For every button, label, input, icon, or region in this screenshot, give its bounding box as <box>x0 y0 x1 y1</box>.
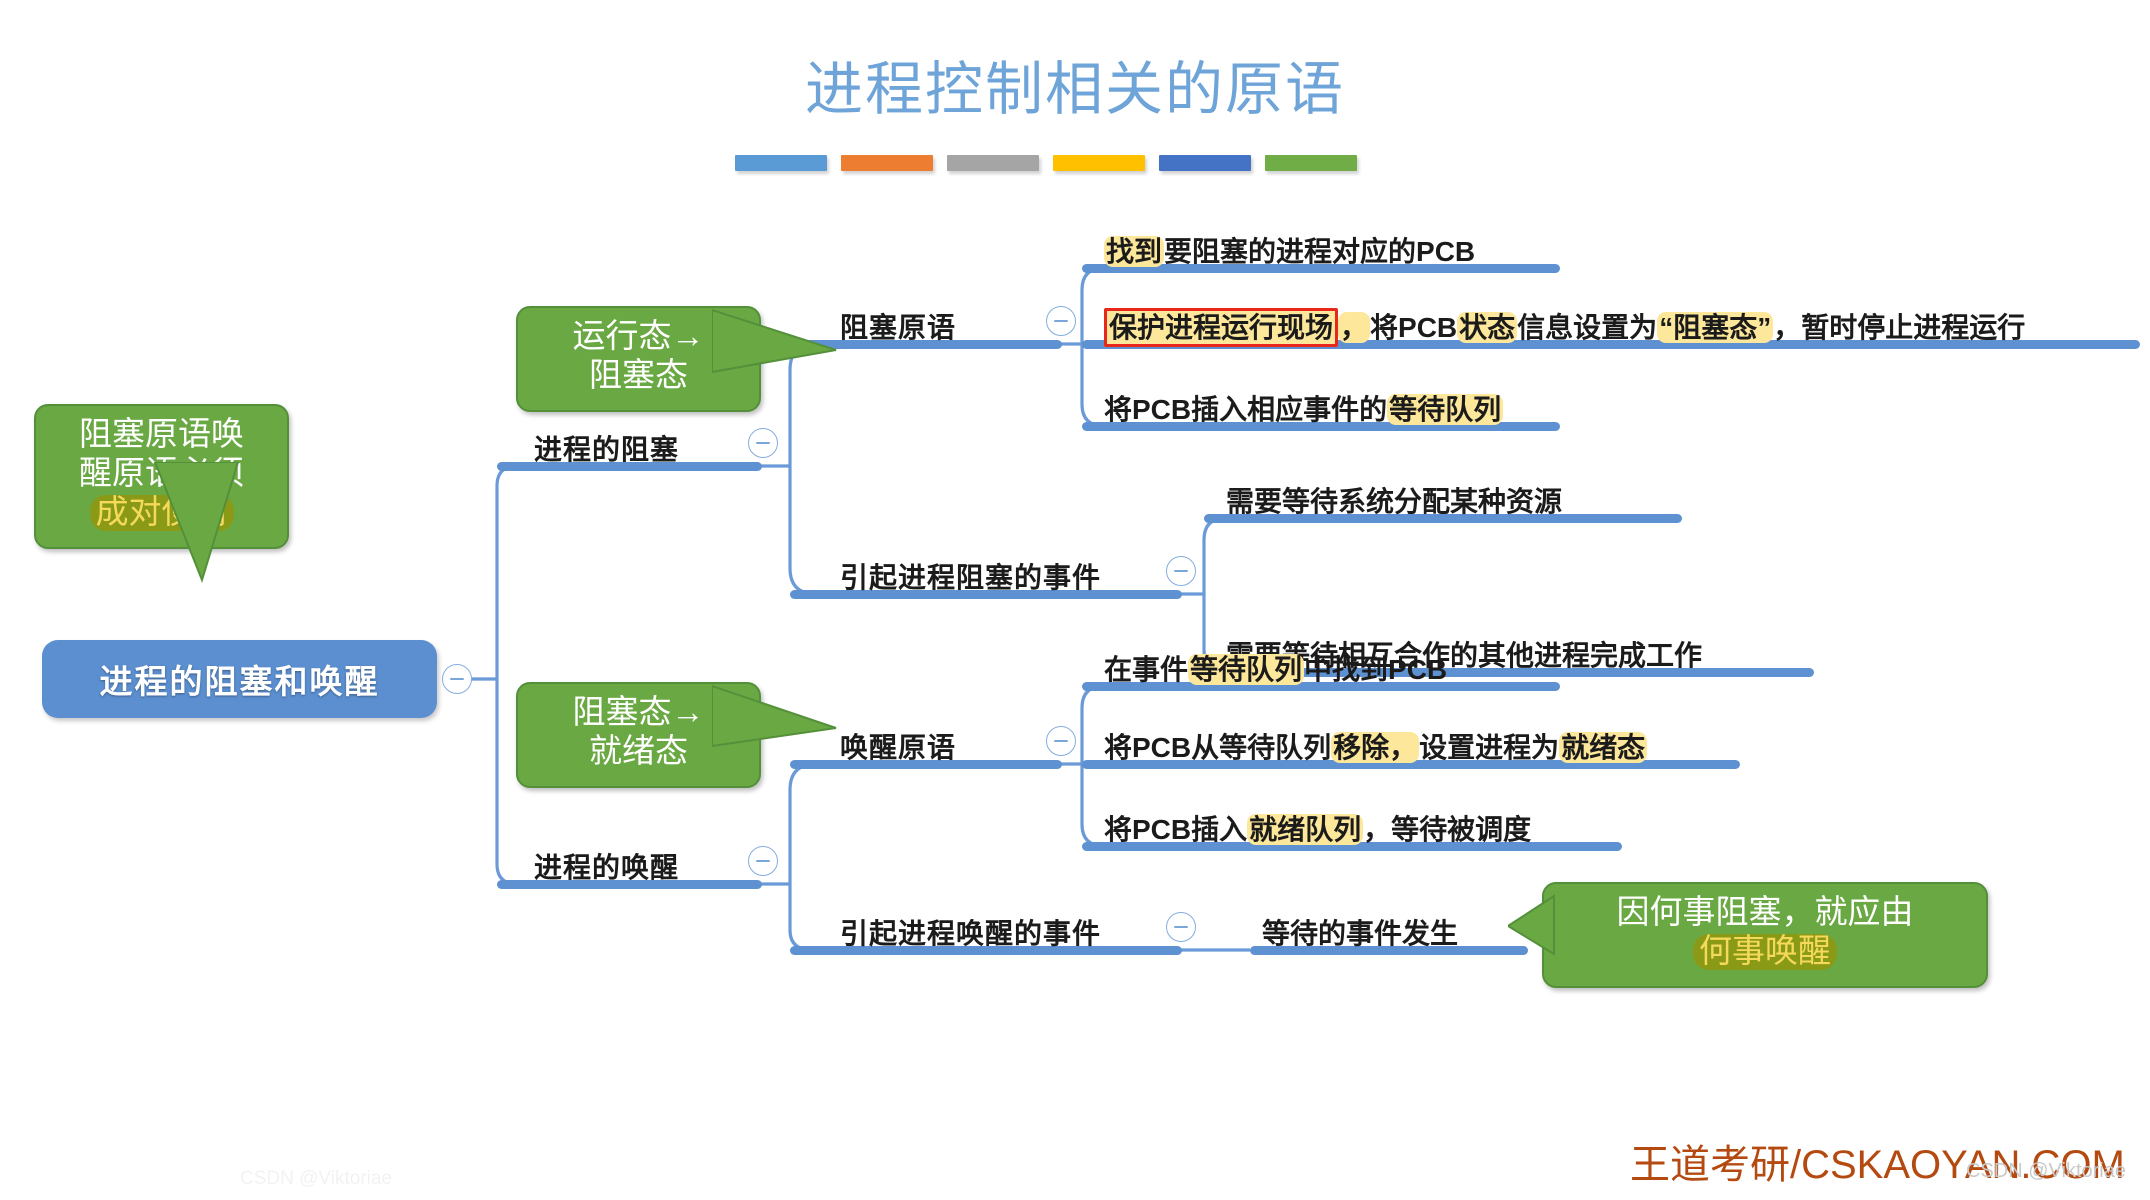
text-plain: 等待的事件发生 <box>1262 918 1458 949</box>
collapse-toggle-process-wakeup[interactable] <box>748 846 778 876</box>
text-highlight: 移除， <box>1331 732 1419 763</box>
text-plain: 将PCB插入 <box>1104 814 1247 845</box>
text-highlight: 等待队列 <box>1188 654 1304 685</box>
text-plain: ，暂时停止进程运行 <box>1773 312 2025 343</box>
callout-pair-use-line1: 阻塞原语唤 <box>44 416 279 455</box>
leaf-wait-resource[interactable]: 需要等待系统分配某种资源 <box>1226 480 1562 520</box>
callout-pair-use-tail <box>150 462 280 592</box>
leaf-find-pcb[interactable]: 找到要阻塞的进程对应的PCB <box>1104 230 1475 270</box>
watermark-bottom-left: CSDN @Viktoriae <box>240 1168 392 1190</box>
text-plain: 要阻塞的进程对应的PCB <box>1164 236 1475 267</box>
collapse-toggle-process-blocking[interactable] <box>748 428 778 458</box>
leaf-insert-ready-queue[interactable]: 将PCB插入就绪队列，等待被调度 <box>1104 808 1531 848</box>
leaf-event-happens[interactable]: 等待的事件发生 <box>1262 912 1458 952</box>
callout-wake-by-cause-tail <box>1508 890 1628 980</box>
text-highlight: 就绪态 <box>1559 732 1647 763</box>
collapse-toggle-root[interactable] <box>442 664 472 694</box>
text-plain: 将PCB <box>1370 312 1457 343</box>
text-plain: 信息设置为 <box>1517 312 1657 343</box>
root-node[interactable]: 进程的阻塞和唤醒 <box>42 640 437 718</box>
text-plain: 将PCB从等待队列 <box>1104 732 1331 763</box>
text-highlight: 找到 <box>1104 236 1164 267</box>
text-plain: 将PCB插入相应事件的 <box>1104 394 1387 425</box>
text-plain: 中找到PCB <box>1304 654 1447 685</box>
watermark-bottom-right: CSDN @Viktoriae <box>1966 1160 2126 1183</box>
branch-node-process-blocking[interactable]: 进程的阻塞 <box>534 428 679 468</box>
text-highlight: ， <box>1338 312 1370 343</box>
text-redbox-highlight: 保护进程运行现场 <box>1104 308 1338 347</box>
collapse-toggle-wakeup-primitive[interactable] <box>1046 726 1076 756</box>
text-highlight: 就绪队列 <box>1247 814 1363 845</box>
callout-running-to-blocked-tail <box>712 300 912 390</box>
text-plain: 设置进程为 <box>1419 732 1559 763</box>
node-blocking-events[interactable]: 引起进程阻塞的事件 <box>840 556 1101 596</box>
leaf-find-in-queue[interactable]: 在事件等待队列中找到PCB <box>1104 648 1447 688</box>
collapse-toggle-block-primitive[interactable] <box>1046 306 1076 336</box>
branch-node-process-wakeup[interactable]: 进程的唤醒 <box>534 846 679 886</box>
root-node-label: 进程的阻塞和唤醒 <box>100 655 380 703</box>
collapse-toggle-blocking-events[interactable] <box>1166 556 1196 586</box>
node-wakeup-events[interactable]: 引起进程唤醒的事件 <box>840 912 1101 952</box>
text-plain: ，等待被调度 <box>1363 814 1531 845</box>
mindmap-connectors <box>0 0 2150 1200</box>
text-highlight: 等待队列 <box>1387 394 1503 425</box>
text-plain: 在事件 <box>1104 654 1188 685</box>
leaf-insert-wait-queue[interactable]: 将PCB插入相应事件的等待队列 <box>1104 388 1503 428</box>
text-plain: 需要等待系统分配某种资源 <box>1226 486 1562 517</box>
leaf-remove-set-ready[interactable]: 将PCB从等待队列移除，设置进程为就绪态 <box>1104 726 1647 766</box>
slide-canvas: 进程控制相关的原语 <box>0 0 2150 1200</box>
callout-blocked-to-ready-tail <box>712 678 912 768</box>
text-highlight: “阻塞态” <box>1657 312 1773 343</box>
leaf-protect-scene[interactable]: 保护进程运行现场，将PCB状态信息设置为“阻塞态”，暂时停止进程运行 <box>1104 306 2025 346</box>
collapse-toggle-wakeup-events[interactable] <box>1166 912 1196 942</box>
text-highlight: 状态 <box>1457 312 1517 343</box>
